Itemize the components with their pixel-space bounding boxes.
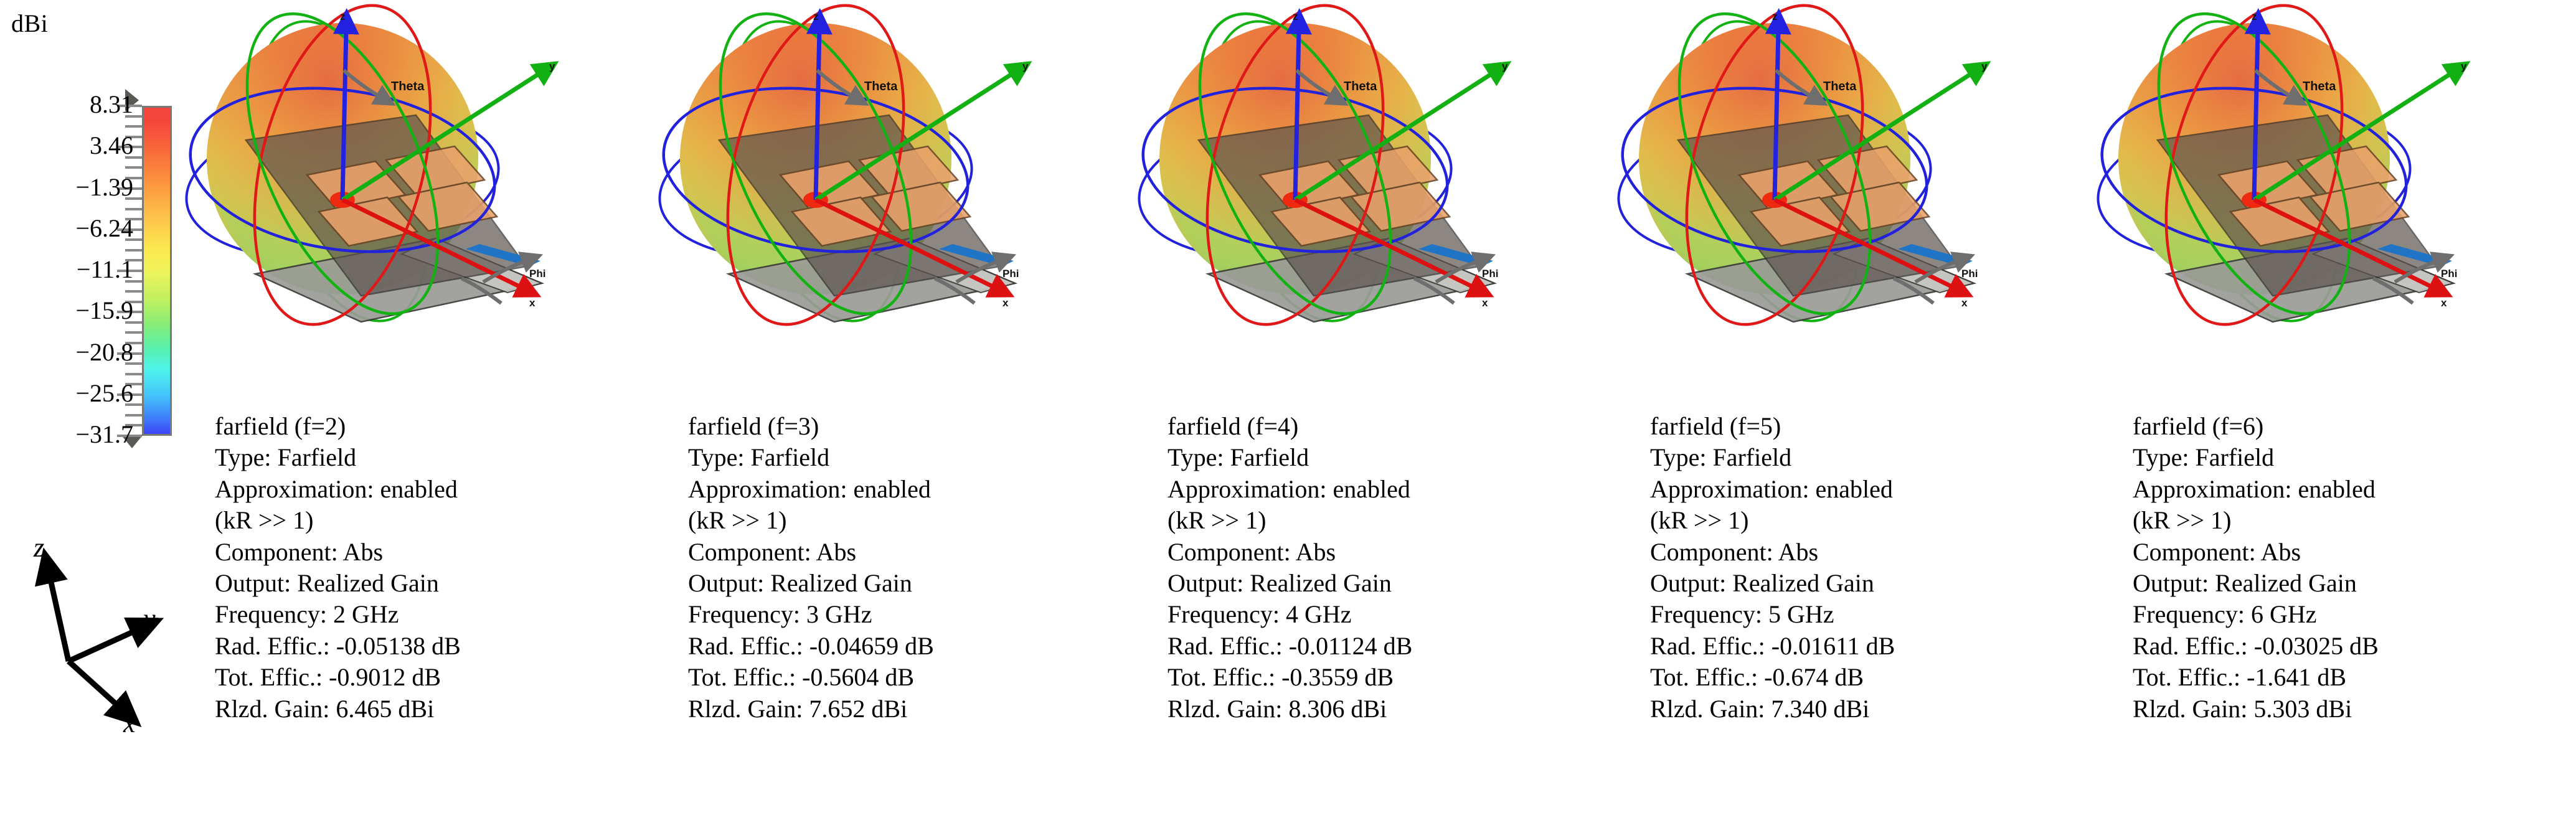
farfield-plot-panel-3[interactable]: z y x Theta Phi <box>1108 0 1600 417</box>
caption-line-rad-effic: Rad. Effic.: -0.05138 dB <box>215 631 701 662</box>
caption-line-component: Component: Abs <box>215 537 701 568</box>
caption-line-rlzd-gain: Rlzd. Gain: 5.303 dBi <box>2133 694 2576 725</box>
caption-line-type: Type: Farfield <box>1168 442 1653 473</box>
caption-line-output: Output: Realized Gain <box>1168 568 1653 599</box>
plot-z-label: z <box>340 11 346 22</box>
farfield-caption-block-1: farfield (f=2)Type: FarfieldApproximatio… <box>215 411 701 725</box>
caption-line-component: Component: Abs <box>1168 537 1653 568</box>
caption-line-type: Type: Farfield <box>688 442 1174 473</box>
caption-line-rad-effic: Rad. Effic.: -0.01611 dB <box>1650 631 2136 662</box>
caption-line-rad-effic: Rad. Effic.: -0.04659 dB <box>688 631 1174 662</box>
caption-line-approximation: Approximation: enabled <box>688 474 1174 505</box>
caption-line-title: farfield (f=2) <box>215 411 701 442</box>
farfield-3d-plot[interactable]: z y x Theta Phi <box>1588 0 2080 417</box>
caption-line-rlzd-gain: Rlzd. Gain: 6.465 dBi <box>215 694 701 725</box>
caption-line-component: Component: Abs <box>2133 537 2576 568</box>
caption-line-rad-effic: Rad. Effic.: -0.03025 dB <box>2133 631 2576 662</box>
caption-line-approximation-cont: (kR >> 1) <box>1168 505 1653 536</box>
plot-x-label: x <box>529 297 535 309</box>
farfield-plot-row: z y x Theta Phi <box>0 0 2576 423</box>
caption-line-approximation-cont: (kR >> 1) <box>688 505 1174 536</box>
plot-phi-label: Phi <box>1003 268 1019 280</box>
plot-theta-label: Theta <box>864 80 898 93</box>
farfield-3d-plot[interactable]: z y x Theta Phi <box>1108 0 1600 417</box>
plot-y-label: y <box>1502 60 1508 72</box>
plot-theta-label: Theta <box>2303 80 2336 93</box>
caption-line-rlzd-gain: Rlzd. Gain: 7.652 dBi <box>688 694 1174 725</box>
farfield-caption-block-5: farfield (f=6)Type: FarfieldApproximatio… <box>2133 411 2576 725</box>
farfield-3d-plot[interactable]: z y x Theta Phi <box>2067 0 2559 417</box>
farfield-caption-block-4: farfield (f=5)Type: FarfieldApproximatio… <box>1650 411 2136 725</box>
caption-line-tot-effic: Tot. Effic.: -0.3559 dB <box>1168 662 1653 693</box>
plot-theta-label: Theta <box>391 80 425 93</box>
caption-line-title: farfield (f=5) <box>1650 411 2136 442</box>
caption-line-approximation-cont: (kR >> 1) <box>215 505 701 536</box>
caption-line-frequency: Frequency: 6 GHz <box>2133 599 2576 630</box>
plot-theta-label: Theta <box>1344 80 1377 93</box>
plot-phi-label: Phi <box>529 268 545 280</box>
plot-phi-label: Phi <box>1482 268 1498 280</box>
plot-y-label: y <box>1981 60 1988 72</box>
caption-line-approximation: Approximation: enabled <box>215 474 701 505</box>
caption-line-tot-effic: Tot. Effic.: -0.5604 dB <box>688 662 1174 693</box>
plot-z-label: z <box>2252 11 2257 22</box>
plot-z-label: z <box>1772 11 1778 22</box>
caption-line-rlzd-gain: Rlzd. Gain: 7.340 dBi <box>1650 694 2136 725</box>
plot-y-label: y <box>549 60 555 72</box>
plot-x-label: x <box>1482 297 1488 309</box>
caption-line-rad-effic: Rad. Effic.: -0.01124 dB <box>1168 631 1653 662</box>
farfield-caption-row: farfield (f=2)Type: FarfieldApproximatio… <box>0 411 2576 797</box>
caption-line-title: farfield (f=3) <box>688 411 1174 442</box>
farfield-caption-block-2: farfield (f=3)Type: FarfieldApproximatio… <box>688 411 1174 725</box>
caption-line-type: Type: Farfield <box>2133 442 2576 473</box>
plot-z-label: z <box>813 11 819 22</box>
caption-line-tot-effic: Tot. Effic.: -0.674 dB <box>1650 662 2136 693</box>
caption-line-frequency: Frequency: 4 GHz <box>1168 599 1653 630</box>
caption-line-component: Component: Abs <box>688 537 1174 568</box>
plot-theta-label: Theta <box>1823 80 1857 93</box>
caption-line-title: farfield (f=4) <box>1168 411 1653 442</box>
farfield-plot-panel-4[interactable]: z y x Theta Phi <box>1588 0 2080 417</box>
plot-z-label: z <box>1293 11 1298 22</box>
caption-line-frequency: Frequency: 5 GHz <box>1650 599 2136 630</box>
caption-line-output: Output: Realized Gain <box>2133 568 2576 599</box>
caption-line-frequency: Frequency: 3 GHz <box>688 599 1174 630</box>
caption-line-approximation: Approximation: enabled <box>1650 474 2136 505</box>
caption-line-output: Output: Realized Gain <box>1650 568 2136 599</box>
farfield-plot-panel-5[interactable]: z y x Theta Phi <box>2067 0 2559 417</box>
caption-line-title: farfield (f=6) <box>2133 411 2576 442</box>
plot-x-label: x <box>1961 297 1968 309</box>
caption-line-tot-effic: Tot. Effic.: -1.641 dB <box>2133 662 2576 693</box>
caption-line-type: Type: Farfield <box>1650 442 2136 473</box>
farfield-plot-panel-1[interactable]: z y x Theta Phi <box>156 0 648 417</box>
farfield-caption-block-3: farfield (f=4)Type: FarfieldApproximatio… <box>1168 411 1653 725</box>
caption-line-frequency: Frequency: 2 GHz <box>215 599 701 630</box>
caption-line-output: Output: Realized Gain <box>215 568 701 599</box>
plot-phi-label: Phi <box>2441 268 2457 280</box>
caption-line-output: Output: Realized Gain <box>688 568 1174 599</box>
caption-line-approximation-cont: (kR >> 1) <box>2133 505 2576 536</box>
plot-x-label: x <box>2441 297 2447 309</box>
farfield-plot-panel-2[interactable]: z y x Theta Phi <box>629 0 1121 417</box>
caption-line-approximation-cont: (kR >> 1) <box>1650 505 2136 536</box>
caption-line-rlzd-gain: Rlzd. Gain: 8.306 dBi <box>1168 694 1653 725</box>
plot-y-label: y <box>1022 60 1029 72</box>
caption-line-approximation: Approximation: enabled <box>1168 474 1653 505</box>
caption-line-tot-effic: Tot. Effic.: -0.9012 dB <box>215 662 701 693</box>
farfield-3d-plot[interactable]: z y x Theta Phi <box>629 0 1121 417</box>
caption-line-type: Type: Farfield <box>215 442 701 473</box>
caption-line-component: Component: Abs <box>1650 537 2136 568</box>
plot-y-label: y <box>2461 60 2467 72</box>
caption-line-approximation: Approximation: enabled <box>2133 474 2576 505</box>
plot-x-label: x <box>1003 297 1009 309</box>
plot-phi-label: Phi <box>1961 268 1978 280</box>
farfield-3d-plot[interactable]: z y x Theta Phi <box>156 0 648 417</box>
